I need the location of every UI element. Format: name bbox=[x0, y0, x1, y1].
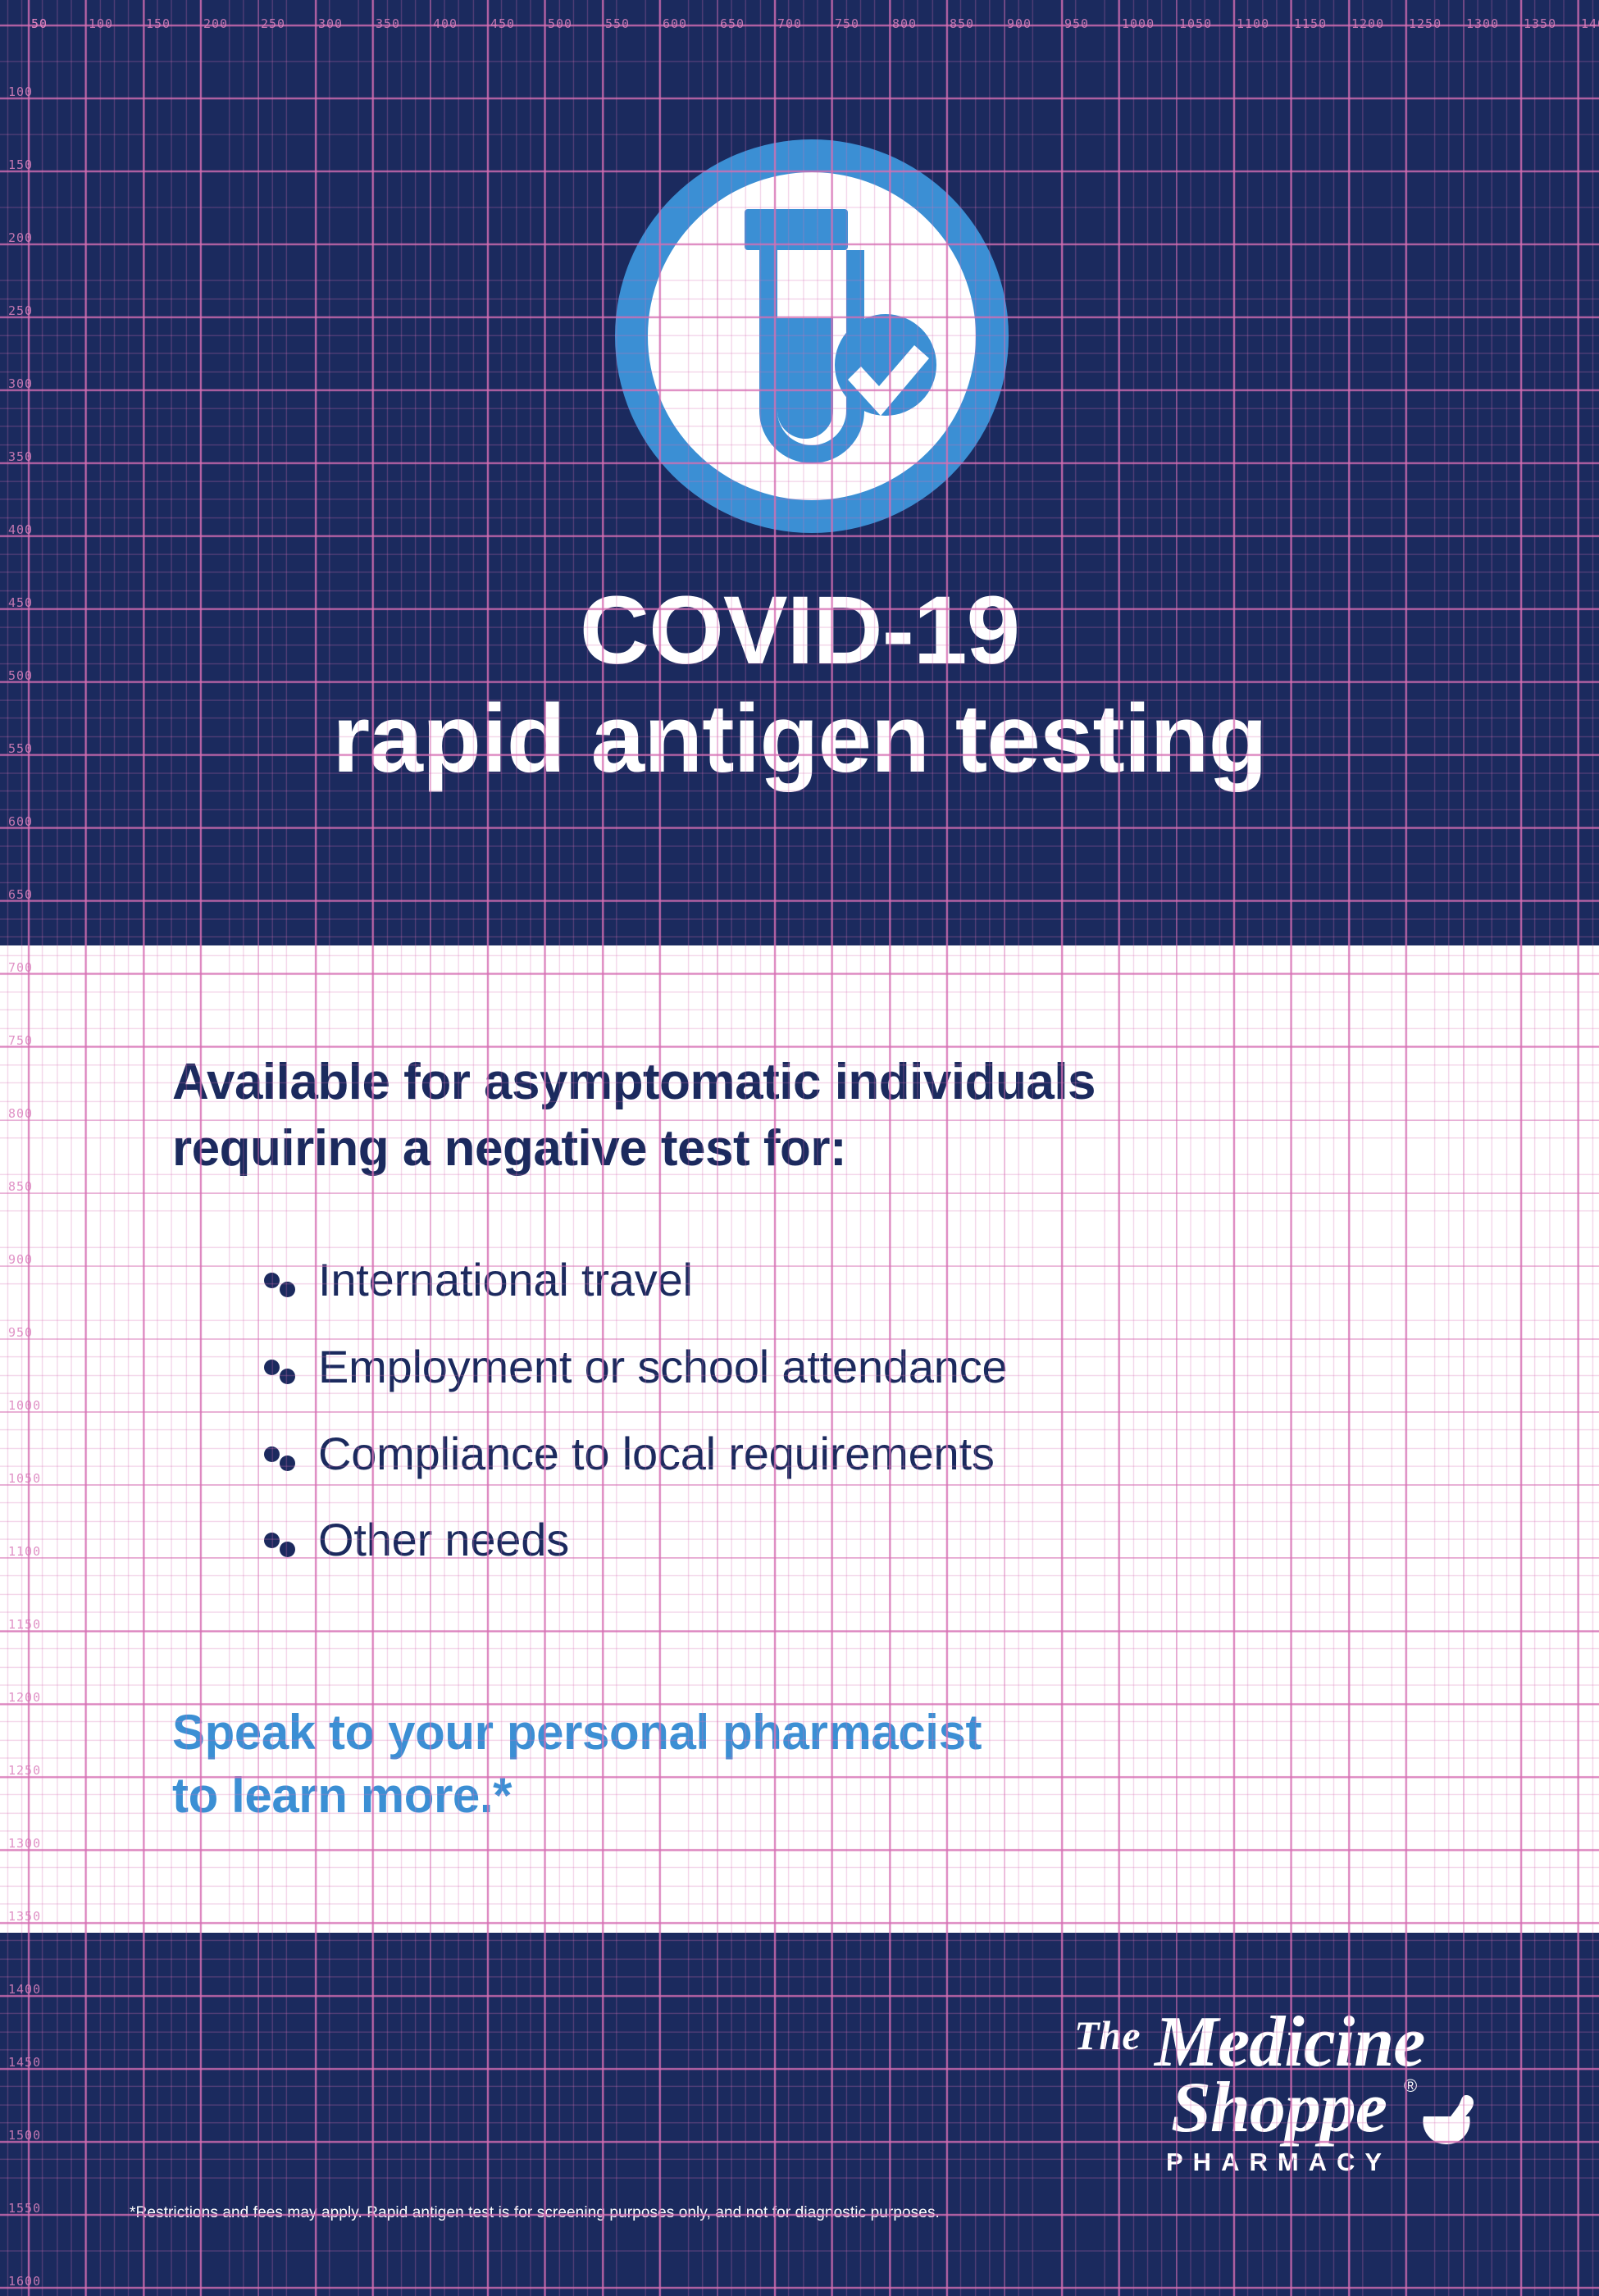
reasons-list: International travel Employment or schoo… bbox=[261, 1256, 1491, 1603]
list-item-label: International travel bbox=[318, 1254, 693, 1305]
registered-trademark-icon: ® bbox=[1404, 2077, 1417, 2095]
bullet-dot-icon bbox=[264, 1273, 280, 1288]
title-line-covid: COVID-19 bbox=[0, 582, 1599, 679]
cta-line-2: to learn more.* bbox=[172, 1765, 1320, 1828]
list-item-label: Employment or school attendance bbox=[318, 1341, 1008, 1392]
bullet-dot-icon bbox=[264, 1533, 280, 1548]
title-line-rapid-antigen: rapid antigen testing bbox=[0, 690, 1599, 787]
list-item: Compliance to local requirements bbox=[261, 1430, 1491, 1478]
bullet-dot-icon bbox=[280, 1542, 295, 1557]
poster-canvas: COVID-19 rapid antigen testing Available… bbox=[0, 0, 1599, 2296]
mortar-and-pestle-icon bbox=[1420, 2093, 1479, 2148]
bullet-dot-icon bbox=[264, 1446, 280, 1462]
bullet-dot-icon bbox=[264, 1360, 280, 1375]
list-item: International travel bbox=[261, 1256, 1491, 1305]
lead-line-2: requiring a negative test for: bbox=[172, 1116, 1451, 1182]
list-item: Employment or school attendance bbox=[261, 1343, 1491, 1392]
list-item-label: Compliance to local requirements bbox=[318, 1428, 995, 1479]
call-to-action: Speak to your personal pharmacist to lea… bbox=[172, 1701, 1320, 1828]
lead-line-1: Available for asymptomatic individuals bbox=[172, 1050, 1451, 1116]
list-item: Other needs bbox=[261, 1516, 1491, 1565]
brand-word-pharmacy: PHARMACY bbox=[1166, 2149, 1392, 2175]
test-tube-check-badge-icon bbox=[607, 131, 1017, 541]
disclaimer-text: *Restrictions and fees may apply. Rapid … bbox=[130, 2204, 1278, 2223]
page-title: COVID-19 rapid antigen testing bbox=[0, 582, 1599, 787]
medicine-shoppe-logo: The Medicine Shoppe ® PHARMACY bbox=[1066, 2013, 1484, 2185]
lead-paragraph: Available for asymptomatic individuals r… bbox=[172, 1050, 1451, 1182]
bullet-dot-icon bbox=[280, 1369, 295, 1384]
list-item-label: Other needs bbox=[318, 1514, 569, 1565]
brand-word-shoppe: Shoppe bbox=[1171, 2072, 1387, 2144]
bullet-dot-icon bbox=[280, 1282, 295, 1297]
bullet-dot-icon bbox=[280, 1455, 295, 1471]
cta-line-1: Speak to your personal pharmacist bbox=[172, 1701, 1320, 1765]
brand-word-the: The bbox=[1074, 2015, 1141, 2056]
